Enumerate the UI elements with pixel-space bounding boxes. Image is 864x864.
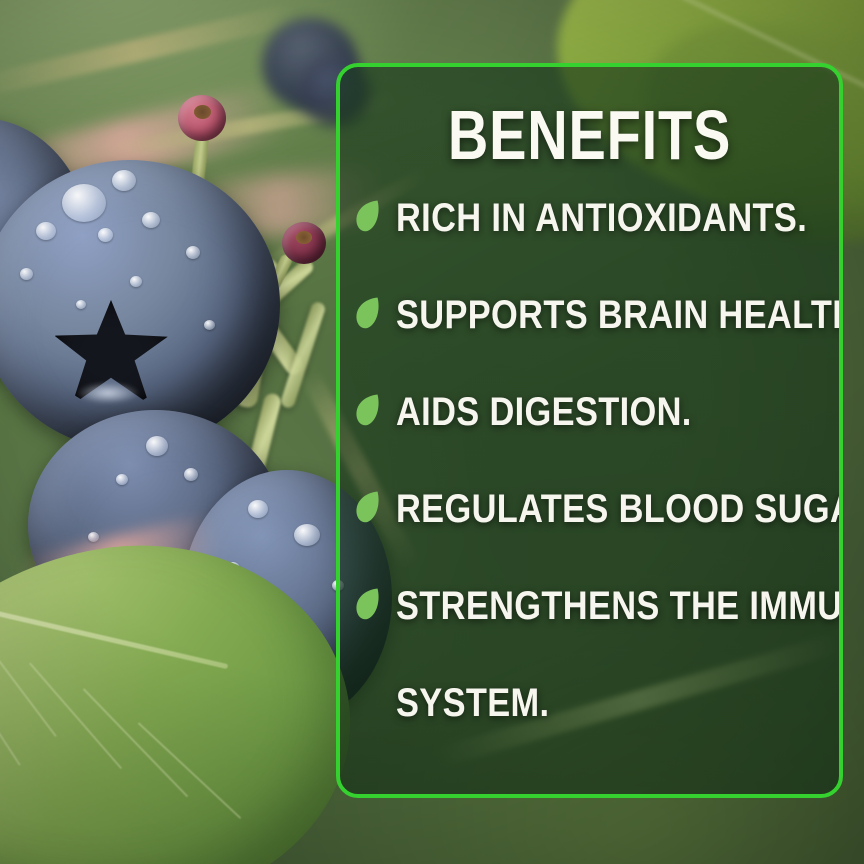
list-item: SUPPORTS BRAIN HEALTH.: [354, 292, 829, 346]
list-item-label: SUPPORTS BRAIN HEALTH.: [396, 292, 843, 339]
list-item-label: SYSTEM.: [396, 680, 549, 727]
bullet-spacer: [354, 680, 382, 718]
leaf-icon: [354, 488, 382, 526]
benefits-panel: BENEFITS RICH IN ANTIOXIDANTS.: [336, 63, 843, 798]
infographic-canvas: BENEFITS RICH IN ANTIOXIDANTS.: [0, 0, 864, 864]
list-item-label: STRENGTHENS THE IMMUNE: [396, 583, 843, 630]
list-item-continuation: SYSTEM.: [354, 680, 829, 734]
benefits-list: RICH IN ANTIOXIDANTS. SUPPORTS BRAIN HEA…: [354, 195, 829, 777]
list-item: RICH IN ANTIOXIDANTS.: [354, 195, 829, 249]
leaf-icon: [354, 391, 382, 429]
leaf-icon: [354, 585, 382, 623]
list-item-label: AIDS DIGESTION.: [396, 389, 692, 436]
list-item-label: REGULATES BLOOD SUGAR.: [396, 486, 843, 533]
page-title: BENEFITS: [390, 100, 789, 170]
leaf-icon: [354, 197, 382, 235]
list-item: STRENGTHENS THE IMMUNE: [354, 583, 829, 637]
leaf-icon: [354, 294, 382, 332]
list-item: AIDS DIGESTION.: [354, 389, 829, 443]
list-item: REGULATES BLOOD SUGAR.: [354, 486, 829, 540]
list-item-label: RICH IN ANTIOXIDANTS.: [396, 195, 807, 242]
